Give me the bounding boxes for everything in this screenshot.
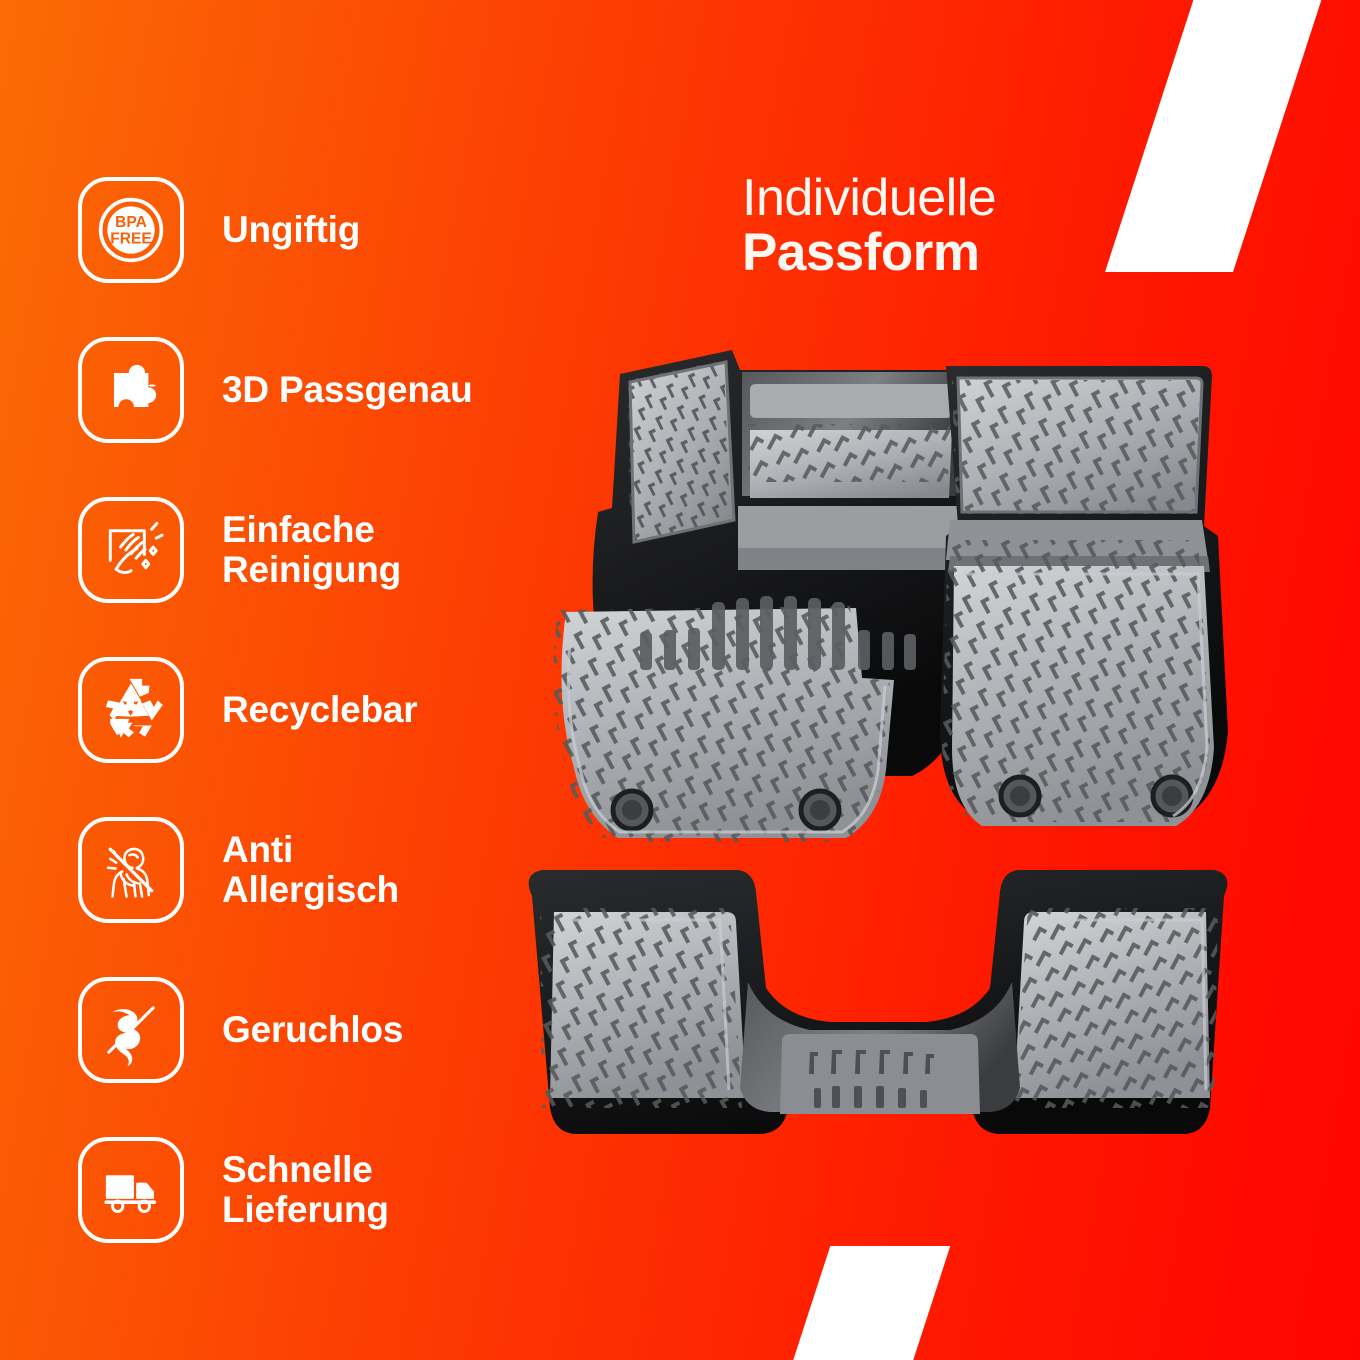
feature-label-3d-passgenau: 3D Passgenau bbox=[222, 370, 473, 410]
feature-item-anti-allergisch: Anti Allergisch bbox=[78, 790, 548, 950]
feature-item-schnelle-lieferung: Schnelle Lieferung bbox=[78, 1110, 548, 1270]
passenger-front-mat bbox=[920, 366, 1240, 850]
rear-bench-mat bbox=[529, 870, 1240, 1134]
no-allergy-icon bbox=[78, 817, 184, 923]
delivery-truck-icon bbox=[78, 1137, 184, 1243]
headline-line-1: Individuelle bbox=[742, 172, 996, 226]
bpa-text-line2: FREE bbox=[110, 230, 151, 247]
diagonal-stripe-bottom-center bbox=[790, 1246, 950, 1360]
driver-front-mat bbox=[540, 350, 974, 890]
puzzle-piece-icon bbox=[78, 337, 184, 443]
feature-label-recyclebar: Recyclebar bbox=[222, 690, 417, 730]
feature-label-schnelle-lieferung: Schnelle Lieferung bbox=[222, 1150, 389, 1230]
recycle-icon bbox=[78, 657, 184, 763]
feature-item-3d-passgenau: 3D Passgenau bbox=[78, 310, 548, 470]
no-odor-icon bbox=[78, 977, 184, 1083]
feature-item-geruchlos: Geruchlos bbox=[78, 950, 548, 1110]
feature-label-anti-allergisch: Anti Allergisch bbox=[222, 830, 399, 910]
feature-label-einfache-reinigung: Einfache Reinigung bbox=[222, 510, 401, 590]
product-image bbox=[480, 340, 1280, 1190]
page-title: Individuelle Passform bbox=[742, 172, 996, 280]
diagonal-stripe-top-right bbox=[1105, 0, 1323, 272]
feature-label-ungiftig: Ungiftig bbox=[222, 210, 360, 250]
feature-label-geruchlos: Geruchlos bbox=[222, 1010, 403, 1050]
bpa-text-line1: BPA bbox=[115, 214, 147, 231]
car-mat-set-illustration bbox=[480, 340, 1280, 1190]
headline-line-2: Passform bbox=[742, 226, 996, 281]
feature-item-einfache-reinigung: Einfache Reinigung bbox=[78, 470, 548, 630]
wiping-hand-icon bbox=[78, 497, 184, 603]
feature-item-recyclebar: Recyclebar bbox=[78, 630, 548, 790]
feature-list: BPA FREE Ungiftig 3D Passgenau bbox=[78, 150, 548, 1270]
feature-item-ungiftig: BPA FREE Ungiftig bbox=[78, 150, 548, 310]
bpa-free-icon: BPA FREE bbox=[78, 177, 184, 283]
infographic-canvas: Individuelle Passform BPA FREE Ungiftig bbox=[0, 0, 1360, 1360]
